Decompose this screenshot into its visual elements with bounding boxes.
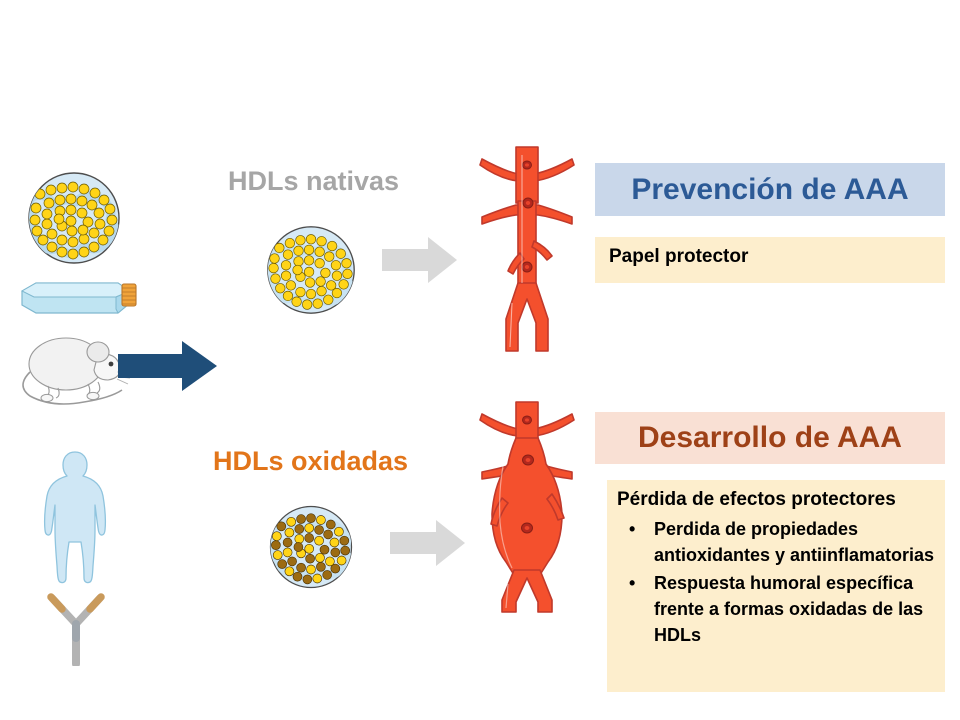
development-bullet-list: • Perdida de propiedades antioxidantes y… (617, 516, 942, 650)
list-item: • Perdida de propiedades antioxidantes y… (617, 516, 942, 568)
prevention-body-box: Papel protector (595, 237, 945, 283)
diagram-canvas: HDLs nativas (0, 0, 960, 720)
right-arrow-icon (382, 236, 458, 284)
laboratory-mouse-icon (14, 328, 134, 418)
human-silhouette-icon (36, 450, 114, 585)
development-body-heading: Pérdida de efectos protectores (617, 489, 896, 511)
list-item: • Respuesta humoral específica frente a … (617, 570, 942, 648)
bullet-icon: • (629, 570, 635, 596)
right-arrow-icon (390, 519, 466, 567)
prevention-body-text: Papel protector (609, 246, 748, 268)
normal-aorta-icon (468, 143, 584, 355)
cell-culture-flask-icon (18, 273, 138, 323)
hdl-particle-icon (24, 168, 124, 268)
prevention-header: Prevención de AAA (595, 163, 945, 216)
hdl-oxidized-label: HDLs oxidadas (213, 446, 408, 477)
bullet-icon: • (629, 516, 635, 542)
list-item-text: Perdida de propiedades antioxidantes y a… (654, 519, 934, 565)
right-arrow-icon (118, 340, 218, 392)
hdl-particle-native-icon (263, 222, 359, 318)
hdl-particle-oxidized-icon (266, 502, 356, 592)
development-header: Desarrollo de AAA (595, 412, 945, 464)
list-item-text: Respuesta humoral específica frente a fo… (654, 573, 923, 645)
hdl-native-label: HDLs nativas (228, 166, 399, 197)
aneurysmal-aorta-icon (468, 398, 584, 616)
development-body-box: Pérdida de efectos protectores • Perdida… (607, 480, 945, 692)
antibody-icon (42, 588, 110, 666)
